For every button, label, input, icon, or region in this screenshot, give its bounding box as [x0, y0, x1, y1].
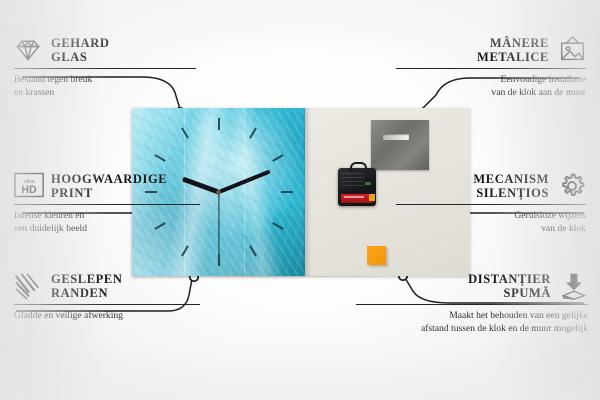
- mechanism-hanging-loop: [350, 162, 367, 172]
- callout-rule: [396, 68, 586, 69]
- callout-header: MECANISM SILENȚIOS: [396, 172, 586, 200]
- callout-header: GESLEPEN RANDEN: [14, 272, 200, 300]
- callout-header: ultra HD HOOGWAARDIGE PRINT: [14, 172, 200, 200]
- clock-tick: [281, 191, 293, 193]
- callout-title: GEHARD GLAS: [51, 36, 109, 64]
- clock-tick: [272, 222, 283, 230]
- callout-rule: [356, 304, 588, 305]
- callout-description: Intense kleuren en een duidelijk beeld: [14, 210, 200, 235]
- mechanism-detail: [342, 173, 364, 187]
- callout-title: MÂNERE METALICE: [477, 36, 549, 64]
- clock-tick: [218, 254, 220, 266]
- callout-title: GESLEPEN RANDEN: [51, 272, 123, 300]
- callout-description: Maakt het behouden van een gelijke afsta…: [356, 310, 588, 335]
- callout-title: HOOGWAARDIGE PRINT: [51, 172, 167, 200]
- clock-tick: [181, 127, 189, 138]
- callout-title: MECANISM SILENȚIOS: [473, 172, 549, 200]
- clock-tick: [272, 154, 283, 162]
- mechanism-contact: [365, 182, 371, 185]
- foam-spacer: [367, 246, 386, 265]
- callout-description: Gladde en veilige afwerking: [14, 310, 200, 323]
- callout-title: DISTANȚIER SPUMĂ: [468, 272, 551, 300]
- clock-tick: [218, 118, 220, 130]
- callout-description: Eenvoudige installatie van de klok aan d…: [396, 74, 586, 99]
- beveled-edges-icon: [14, 272, 42, 300]
- clock-mechanism: [338, 168, 376, 206]
- callout-header: DISTANȚIER SPUMĂ: [356, 272, 588, 300]
- callout-header: MÂNERE METALICE: [396, 36, 586, 64]
- callout-distantier-spuma[interactable]: DISTANȚIER SPUMĂ Maakt het behouden van …: [356, 272, 588, 335]
- callout-gehard-glas[interactable]: GEHARD GLAS Bestand tegen breuk en krass…: [14, 36, 196, 99]
- battery-label: [344, 196, 364, 198]
- callout-manere-metalice[interactable]: MÂNERE METALICE Eenvoudige installatie v…: [396, 36, 586, 99]
- clock-tick: [249, 245, 257, 256]
- infographic-canvas: GEHARD GLAS Bestand tegen breuk en krass…: [0, 0, 600, 400]
- metal-hanger-plate: [371, 120, 429, 170]
- diamond-icon: [14, 36, 42, 64]
- callout-description: Bestand tegen breuk en krassen: [14, 74, 196, 99]
- spacer-arrow-icon: [560, 272, 588, 300]
- callout-rule: [14, 304, 200, 305]
- gear-icon: [558, 172, 586, 200]
- battery-positive-terminal: [369, 194, 375, 201]
- callout-description: Geruisloze wijzers van de klok: [396, 210, 586, 235]
- callout-header: GEHARD GLAS: [14, 36, 196, 64]
- hanger-slot: [383, 134, 409, 140]
- minute-hand: [218, 170, 270, 194]
- clock-tick: [181, 245, 189, 256]
- callout-hoogwaardige-print[interactable]: ultra HD HOOGWAARDIGE PRINT Intense kleu…: [14, 172, 200, 235]
- picture-hanger-icon: [558, 36, 586, 64]
- clock-tick: [249, 127, 257, 138]
- second-hand: [218, 192, 219, 254]
- aa-battery: [341, 194, 373, 203]
- ultra-hd-icon: ultra HD: [14, 172, 42, 200]
- svg-text:HD: HD: [21, 184, 37, 196]
- callout-geslepen-randen[interactable]: GESLEPEN RANDEN Gladde en veilige afwerk…: [14, 272, 200, 323]
- callout-mecanism-silentios[interactable]: MECANISM SILENȚIOS Geruisloze wijzers va…: [396, 172, 586, 235]
- clock-tick: [154, 154, 165, 162]
- callout-rule: [14, 68, 196, 69]
- callout-rule: [396, 204, 586, 205]
- center-pin: [216, 190, 221, 195]
- callout-rule: [14, 204, 200, 205]
